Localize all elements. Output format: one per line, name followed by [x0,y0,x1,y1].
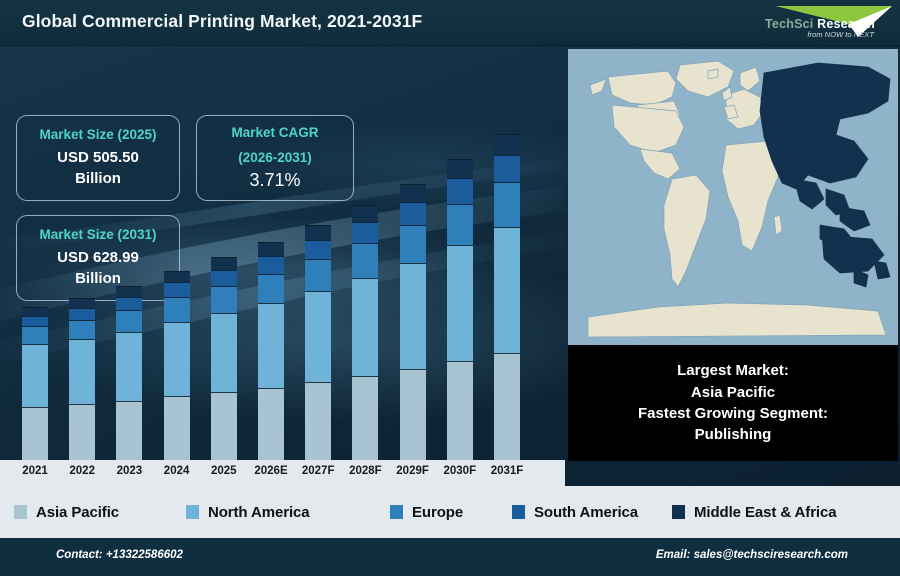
page-footer: Contact: +13322586602 Email: sales@techs… [0,538,900,576]
bar-segment-europe [400,225,426,263]
bar-segment-north-america [447,245,473,361]
x-axis-label-2022: 2022 [57,465,107,477]
bar-2028F[interactable] [352,205,378,486]
bar-segment-middle-east-africa [305,225,331,240]
x-axis-label-2023: 2023 [104,465,154,477]
x-axis-label-2021: 2021 [10,465,60,477]
logo-tagline: from NOW to NEXT [807,30,874,39]
bar-segment-middle-east-africa [258,242,284,256]
x-axis-label-2030F: 2030F [435,465,485,477]
bar-segment-north-america [164,322,190,397]
logo-brand-secondary: Research [813,17,875,31]
legend-item-south-america[interactable]: South America [512,504,638,521]
page-title: Global Commercial Printing Market, 2021-… [22,11,422,32]
bar-segment-south-america [258,256,284,274]
logo-brand-primary: TechSci [765,17,813,31]
bar-segment-middle-east-africa [352,205,378,222]
page-header: Global Commercial Printing Market, 2021-… [0,0,900,46]
legend-swatch-south-america [512,505,525,519]
bar-segment-europe [69,320,95,340]
bar-segment-middle-east-africa [69,298,95,307]
x-axis-label-2028F: 2028F [340,465,390,477]
x-axis-label-2024: 2024 [152,465,202,477]
legend-swatch-north-america [186,505,199,519]
bar-2025[interactable] [211,257,237,486]
bar-segment-middle-east-africa [494,134,520,155]
bar-segment-middle-east-africa [400,184,426,202]
bar-segment-south-america [211,270,237,286]
bar-segment-north-america [116,332,142,401]
x-axis-label-2027F: 2027F [293,465,343,477]
largest-market-label: Largest Market: [677,360,789,381]
bar-segment-south-america [116,297,142,310]
legend-swatch-europe [390,505,403,519]
logo-wordmark: TechSci Research [765,17,875,31]
legend-item-north-america[interactable]: North America [186,504,310,521]
legend-label-asia-pacific: Asia Pacific [36,504,119,521]
bar-segment-europe [116,310,142,332]
bar-segment-europe [352,243,378,278]
bar-segment-south-america [494,155,520,182]
footer-contact: Contact: +13322586602 [56,549,183,561]
legend-label-south-america: South America [534,504,638,521]
bar-segment-north-america [211,313,237,392]
bar-segment-middle-east-africa [211,257,237,270]
bar-segment-south-america [22,316,48,327]
bar-segment-south-america [352,222,378,243]
legend-label-middle-east-africa: Middle East & Africa [694,504,836,521]
legend-swatch-middle-east-africa [672,505,685,519]
bar-segment-south-america [400,202,426,225]
legend-swatch-asia-pacific [14,505,27,519]
bar-segment-europe [211,286,237,313]
bar-segment-south-america [305,240,331,260]
bar-2024[interactable] [164,271,190,486]
bar-segment-middle-east-africa [116,286,142,297]
bar-2031F[interactable] [494,134,520,486]
bar-segment-europe [494,182,520,227]
bar-segment-north-america [400,263,426,369]
bar-segment-south-america [69,308,95,320]
bar-2026E[interactable] [258,242,284,486]
bar-segment-europe [305,259,331,291]
bar-segment-north-america [22,344,48,407]
x-axis-label-2026E: 2026E [246,465,296,477]
bar-2023[interactable] [116,286,142,486]
bar-2027F[interactable] [305,224,331,486]
legend-label-north-america: North America [208,504,310,521]
bar-segment-middle-east-africa [164,271,190,283]
bar-segment-north-america [352,278,378,376]
techsci-research-logo: TechSci Research from NOW to NEXT [716,2,892,44]
key-insights-box: Largest Market: Asia Pacific Fastest Gro… [568,345,898,461]
footer-email: Email: sales@techsciresearch.com [656,549,848,561]
chart-legend: Asia PacificNorth AmericaEuropeSouth Ame… [0,486,900,538]
bar-segment-south-america [447,178,473,203]
bar-segment-middle-east-africa [447,159,473,179]
bar-segment-north-america [494,227,520,353]
x-axis-label-2031F: 2031F [482,465,532,477]
fastest-segment-label: Fastest Growing Segment: [638,403,828,424]
largest-market-value: Asia Pacific [691,382,775,403]
legend-item-asia-pacific[interactable]: Asia Pacific [14,504,119,521]
bar-segment-europe [164,297,190,321]
world-map-panel [568,49,898,345]
bar-segment-europe [22,326,48,344]
bar-segment-europe [258,274,284,303]
stacked-bar-chart [0,92,565,486]
legend-label-europe: Europe [412,504,463,521]
bar-segment-south-america [164,282,190,297]
x-axis-label-2029F: 2029F [388,465,438,477]
world-map-icon [568,49,898,345]
legend-item-europe[interactable]: Europe [390,504,463,521]
chart-x-axis: 202120222023202420252026E2027F2028F2029F… [0,460,565,486]
bar-segment-north-america [69,339,95,404]
bar-2029F[interactable] [400,184,426,486]
fastest-segment-value: Publishing [695,424,772,445]
bar-2022[interactable] [69,298,95,486]
bar-segment-north-america [305,291,331,382]
bar-2030F[interactable] [447,159,473,486]
x-axis-label-2025: 2025 [199,465,249,477]
bar-segment-north-america [258,303,284,388]
legend-item-middle-east-africa[interactable]: Middle East & Africa [672,504,836,521]
bar-segment-europe [447,204,473,245]
bar-segment-middle-east-africa [22,307,48,315]
